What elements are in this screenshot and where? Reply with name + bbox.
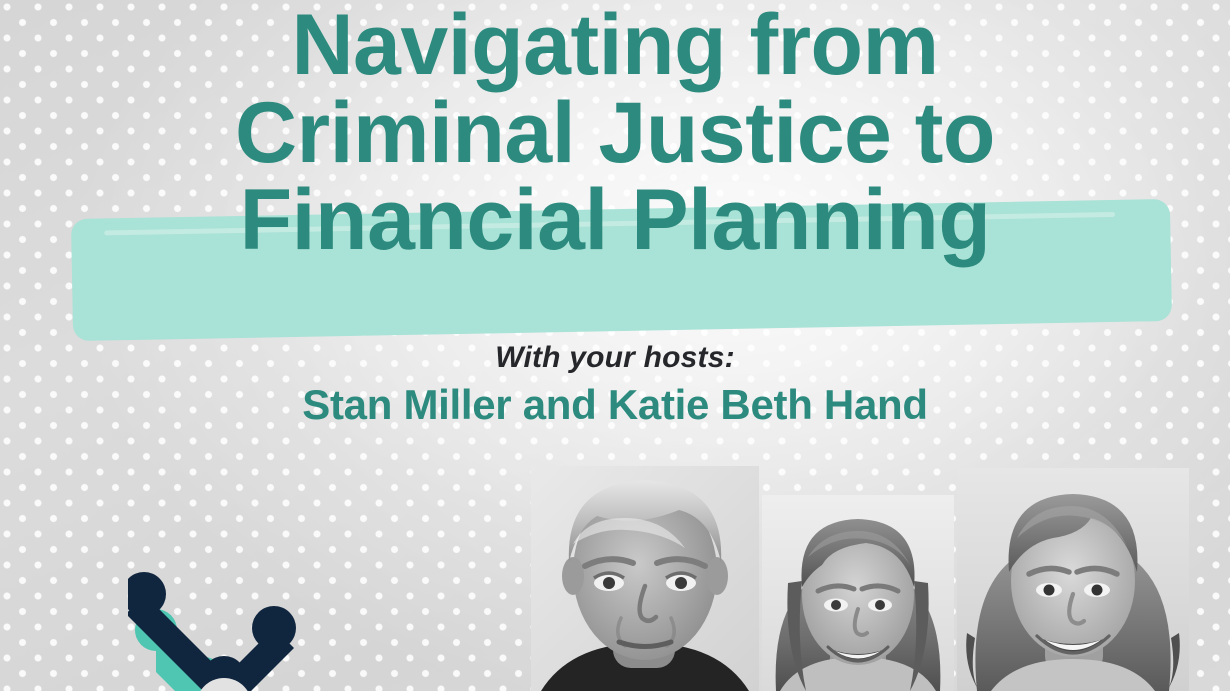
page-title: Navigating from Criminal Justice to Fina… xyxy=(0,2,1230,265)
logo-check-mark xyxy=(128,572,296,691)
headshot-third-presenter xyxy=(957,468,1189,691)
checkmark-logo xyxy=(128,570,296,691)
title-line-1: Navigating from xyxy=(0,2,1230,90)
hosts-names: Stan Miller and Katie Beth Hand xyxy=(0,381,1230,429)
title-line-2: Criminal Justice to xyxy=(0,90,1230,178)
title-slide: Navigating from Criminal Justice to Fina… xyxy=(0,0,1230,691)
headshot-stan-miller xyxy=(531,466,759,691)
title-line-3: Financial Planning xyxy=(0,177,1230,265)
headshot-katie-beth-hand xyxy=(762,495,954,691)
hosts-label: With your hosts: xyxy=(0,341,1230,375)
